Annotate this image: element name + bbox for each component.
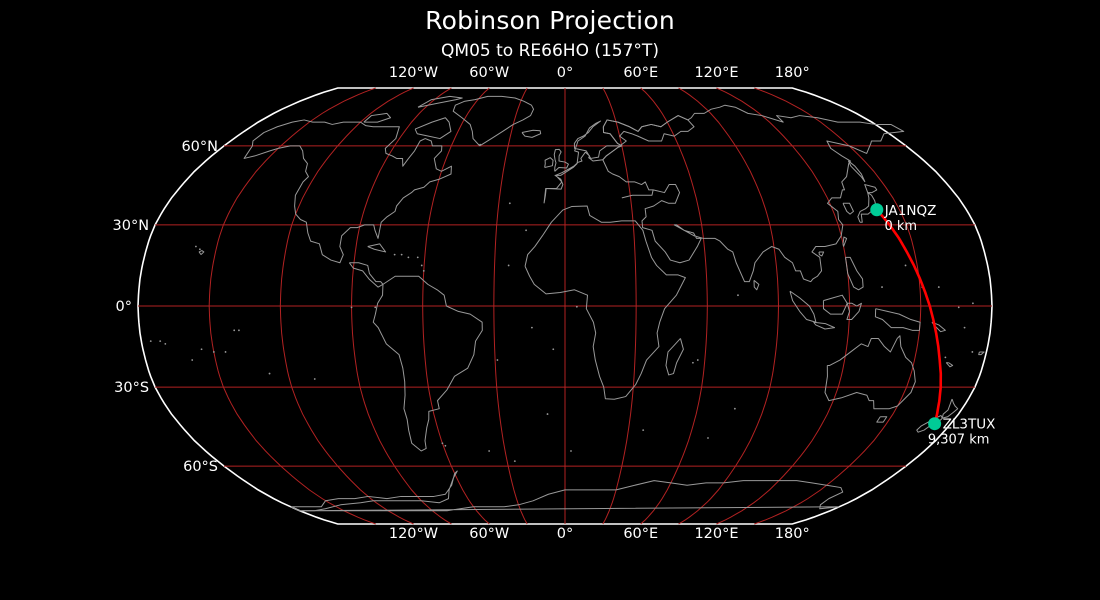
xtick-top-0°: 0° xyxy=(557,65,573,81)
xtick-bottom-120°E: 120°E xyxy=(694,526,738,542)
ytick-60°S: 60°S xyxy=(183,459,218,475)
xtick-bottom-0°: 0° xyxy=(557,526,573,542)
xtick-top-180°: 180° xyxy=(775,65,810,81)
xtick-bottom-60°E: 60°E xyxy=(623,526,658,542)
station-marker-ZL3TUX[interactable] xyxy=(928,417,941,430)
xtick-bottom-60°W: 60°W xyxy=(469,526,509,542)
station-marker-JA1NQZ[interactable] xyxy=(870,203,883,216)
ytick-30°S: 30°S xyxy=(114,380,149,396)
map-figure: Robinson Projection QM05 to RE66HO (157°… xyxy=(0,0,1100,600)
ytick-60°N: 60°N xyxy=(181,139,218,155)
xtick-top-120°E: 120°E xyxy=(694,65,738,81)
map-label-layer: JA1NQZ0 kmZL3TUX9,307 km0°0°60°E60°E120°… xyxy=(0,0,1100,600)
xtick-bottom-120°W: 120°W xyxy=(389,526,438,542)
station-distance-ZL3TUX: 9,307 km xyxy=(928,433,990,448)
ytick-30°N: 30°N xyxy=(113,218,150,234)
ytick-0°: 0° xyxy=(116,299,132,315)
xtick-top-120°W: 120°W xyxy=(389,65,438,81)
xtick-top-60°E: 60°E xyxy=(623,65,658,81)
station-label-ZL3TUX: ZL3TUX xyxy=(943,417,996,433)
station-distance-JA1NQZ: 0 km xyxy=(884,219,917,234)
xtick-top-60°W: 60°W xyxy=(469,65,509,81)
station-label-JA1NQZ: JA1NQZ xyxy=(884,203,937,219)
xtick-bottom-180°: 180° xyxy=(775,526,810,542)
